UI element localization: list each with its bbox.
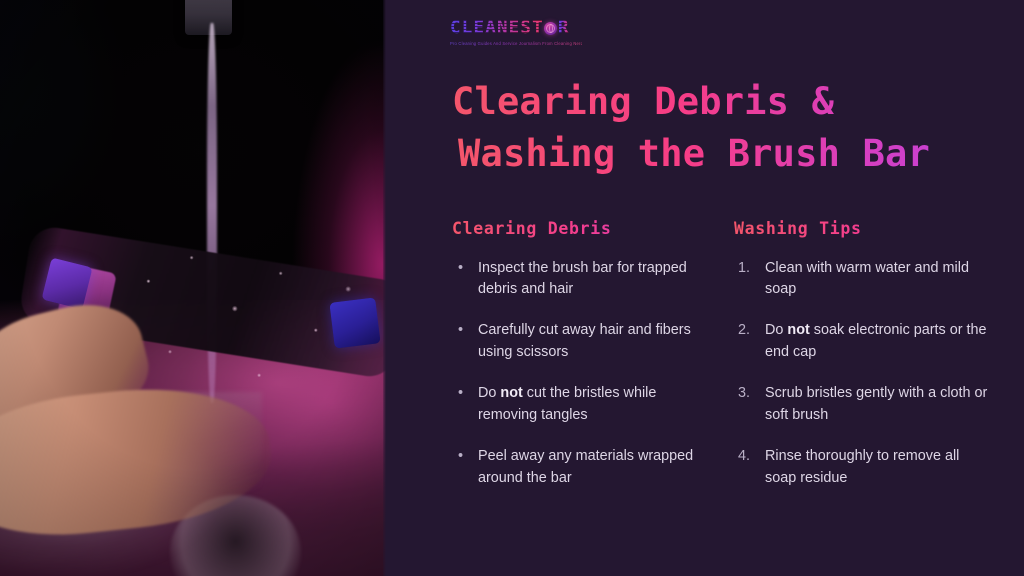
column-washing-tips: Washing Tips 1.Clean with warm water and…	[734, 219, 994, 490]
page-title: Clearing Debris & Washing the Brush Bar	[452, 76, 994, 181]
content-panel: CLEANEST R Pro Cleaning Guides And Servi…	[386, 0, 1024, 576]
list-item-text: Do not cut the bristles while removing t…	[478, 383, 714, 427]
column-heading-washing-tips: Washing Tips	[734, 219, 994, 238]
list-item: •Carefully cut away hair and fibers usin…	[452, 320, 714, 364]
list-item-marker: •	[452, 383, 478, 427]
photo-vignette	[0, 0, 386, 576]
list-item-marker: •	[452, 320, 478, 364]
list-item: •Do not cut the bristles while removing …	[452, 383, 714, 427]
list-item-text: Scrub bristles gently with a cloth or so…	[765, 383, 994, 427]
column-heading-clearing-debris: Clearing Debris	[452, 219, 714, 238]
globe-icon	[544, 22, 557, 35]
list-item: 1.Clean with warm water and mild soap	[734, 258, 994, 302]
hero-photo	[0, 0, 386, 576]
list-item-marker: 1.	[734, 258, 765, 302]
list-item-marker: 4.	[734, 446, 765, 490]
list-item-text: Rinse thoroughly to remove all soap resi…	[765, 446, 994, 490]
column-clearing-debris: Clearing Debris •Inspect the brush bar f…	[452, 219, 714, 490]
brand-name-part-1: CLEANEST	[450, 20, 544, 38]
list-item: •Peel away any materials wrapped around …	[452, 446, 714, 490]
list-item-marker: 2.	[734, 320, 765, 364]
list-item-text: Clean with warm water and mild soap	[765, 258, 994, 302]
list-item-marker: •	[452, 446, 478, 490]
list-item-text: Do not soak electronic parts or the end …	[765, 320, 994, 364]
brand-logo[interactable]: CLEANEST R Pro Cleaning Guides And Servi…	[450, 20, 582, 46]
list-item: 2.Do not soak electronic parts or the en…	[734, 320, 994, 364]
washing-tips-list: 1.Clean with warm water and mild soap2.D…	[734, 258, 994, 490]
list-item-text: Inspect the brush bar for trapped debris…	[478, 258, 714, 302]
page-title-line-1: Clearing Debris &	[452, 76, 994, 129]
brand-wordmark: CLEANEST R	[450, 20, 582, 38]
slide-root: CLEANEST R Pro Cleaning Guides And Servi…	[0, 0, 1024, 576]
list-item-marker: 3.	[734, 383, 765, 427]
emphasis-text: not	[787, 322, 809, 338]
list-item-marker: •	[452, 258, 478, 302]
list-item: 3.Scrub bristles gently with a cloth or …	[734, 383, 994, 427]
list-item: •Inspect the brush bar for trapped debri…	[452, 258, 714, 302]
list-item: 4.Rinse thoroughly to remove all soap re…	[734, 446, 994, 490]
brand-name-part-2: R	[558, 20, 570, 38]
list-item-text: Carefully cut away hair and fibers using…	[478, 320, 714, 364]
clearing-debris-list: •Inspect the brush bar for trapped debri…	[452, 258, 714, 490]
list-item-text: Peel away any materials wrapped around t…	[478, 446, 714, 490]
content-columns: Clearing Debris •Inspect the brush bar f…	[452, 219, 994, 490]
brand-tagline: Pro Cleaning Guides And Service Journali…	[450, 41, 582, 46]
emphasis-text: not	[500, 385, 522, 401]
page-title-line-2: Washing the Brush Bar	[458, 128, 994, 181]
